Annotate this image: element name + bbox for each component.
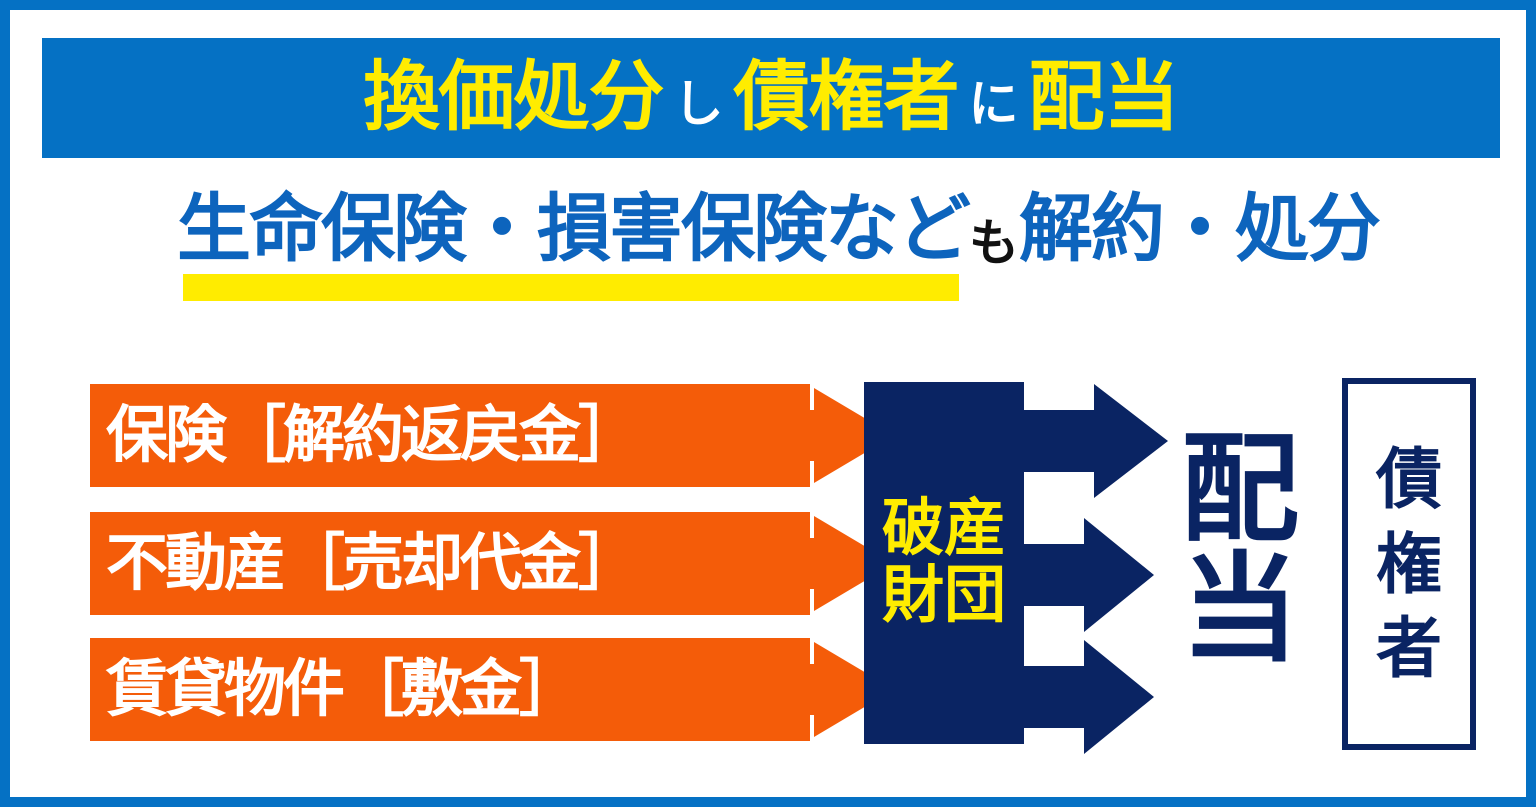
distribution-arrow-icon-1 — [1018, 382, 1170, 500]
banner-segment-4: に — [959, 79, 1029, 129]
header-banner: 換価処分 し 債権者 に 配当 — [42, 38, 1500, 158]
estate-line-1: 破産 — [882, 496, 1006, 563]
banner-segment-2: し — [664, 79, 734, 129]
estate-line-2: 財団 — [882, 563, 1006, 630]
subtitle-wrap: 生命保険・損害保険なども解約・処分 — [177, 192, 1379, 266]
bankruptcy-estate-box: 破産 財団 — [864, 382, 1024, 744]
source-bar: 賃貸物件［敷金］ — [90, 638, 730, 741]
distribution-char-1: 配 — [1170, 430, 1310, 550]
source-label: 不動産［売却代金］ — [90, 533, 637, 595]
creditor-char-2: 権 — [1376, 522, 1442, 606]
distribution-char-2: 当 — [1170, 550, 1310, 670]
infographic-page: 換価処分 し 債権者 に 配当 生命保険・損害保険なども解約・処分 保険［解約返… — [0, 0, 1536, 807]
creditor-box: 債 権 者 — [1342, 378, 1476, 750]
banner-segment-3: 債権者 — [734, 60, 959, 136]
subtitle-particle: も — [969, 215, 1019, 271]
creditor-char-3: 者 — [1376, 606, 1442, 690]
creditor-char-1: 債 — [1376, 437, 1442, 521]
distribution-arrow-icon-3 — [1018, 638, 1156, 756]
source-bar: 保険［解約返戻金］ — [90, 384, 730, 487]
subtitle: 生命保険・損害保険なども解約・処分 — [10, 192, 1536, 266]
source-label: 賃貸物件［敷金］ — [90, 659, 578, 721]
banner-segment-1: 換価処分 — [364, 60, 664, 136]
subtitle-highlighted-text: 生命保険・損害保険など — [177, 187, 969, 270]
banner-segment-5: 配当 — [1029, 60, 1179, 136]
source-bar: 不動産［売却代金］ — [90, 512, 730, 615]
source-label: 保険［解約返戻金］ — [90, 405, 637, 467]
yellow-marker-highlight — [183, 274, 959, 301]
subtitle-tail-text: 解約・処分 — [1019, 187, 1379, 270]
distribution-arrow-icon-2 — [1018, 516, 1156, 634]
distribution-label: 配 当 — [1170, 430, 1310, 671]
